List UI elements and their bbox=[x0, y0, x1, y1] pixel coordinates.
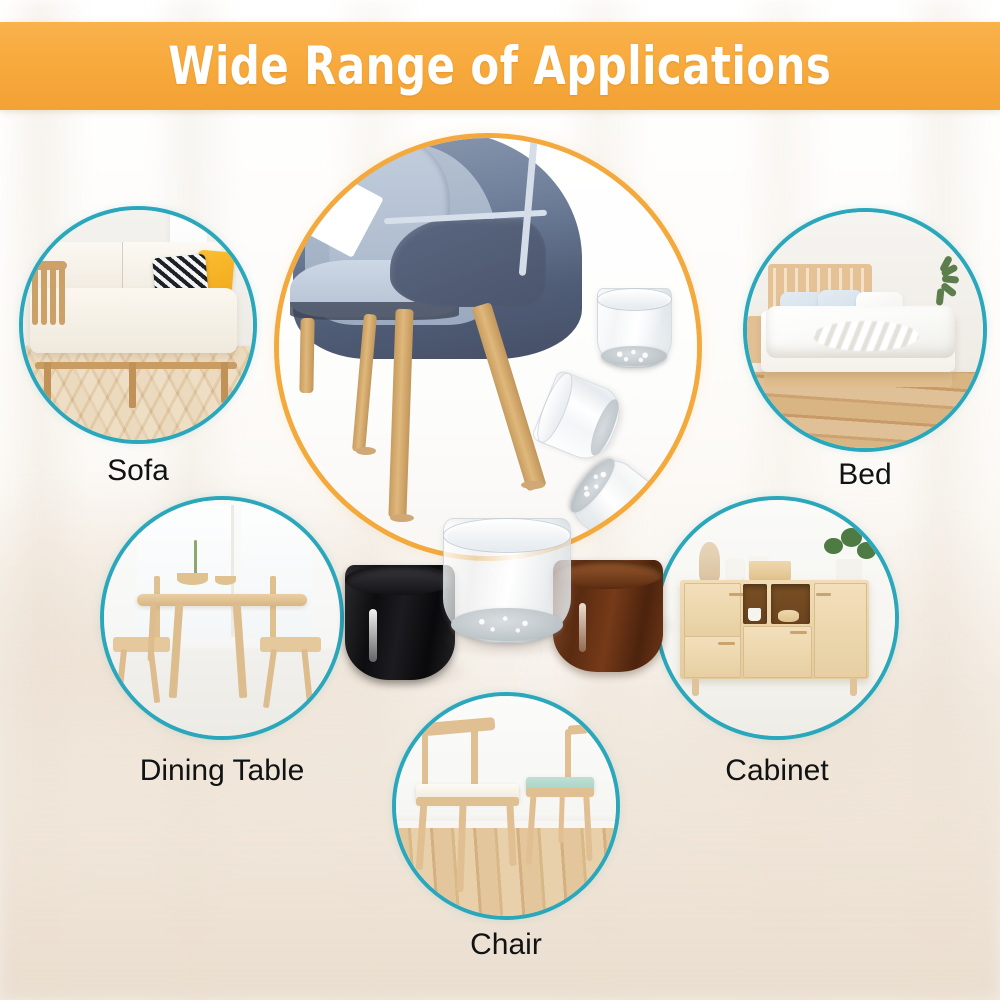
dining-chair-leg bbox=[263, 649, 277, 708]
cabinet-door bbox=[684, 583, 741, 637]
sofa-leg bbox=[221, 362, 228, 403]
chair-left-back-post bbox=[471, 727, 478, 793]
dining-chair-right bbox=[260, 594, 321, 707]
product-cap-transparent-felt-pad bbox=[451, 608, 564, 641]
hero-chair-leg bbox=[299, 318, 314, 393]
cabinet-leg bbox=[692, 679, 699, 696]
sofa-armrest bbox=[30, 261, 67, 358]
chair-floor bbox=[396, 828, 616, 916]
hero-photo bbox=[279, 138, 697, 556]
cabinet-door bbox=[814, 583, 867, 678]
hero-chair-foot bbox=[356, 447, 376, 455]
hero-chair bbox=[287, 138, 588, 385]
dining-chair-leg bbox=[115, 649, 127, 708]
sofa-armrest-post bbox=[32, 267, 38, 325]
bed-plant-leaf bbox=[936, 288, 945, 305]
sofa-armrest-post bbox=[41, 267, 47, 325]
cabinet-box bbox=[749, 561, 791, 580]
cabinet-door-handle bbox=[816, 593, 831, 596]
product-cap-brown-highlight bbox=[579, 603, 586, 652]
dining-bowl-small bbox=[215, 576, 236, 585]
application-circle-chair[interactable] bbox=[396, 696, 616, 916]
application-label-sofa: Sofa bbox=[23, 456, 253, 486]
application-label-chair: Chair bbox=[396, 930, 616, 960]
application-circle-sofa[interactable] bbox=[23, 210, 253, 440]
sofa-floor-overlay bbox=[23, 346, 253, 440]
hero-cap-upright bbox=[597, 288, 672, 367]
cabinet-leg bbox=[850, 679, 857, 696]
page-title: Wide Range of Applications bbox=[168, 40, 831, 93]
chair-left-back-post bbox=[422, 727, 428, 793]
application-label-bed: Bed bbox=[747, 460, 983, 490]
hero-chair-foot bbox=[390, 514, 414, 522]
sofa-armrest-post bbox=[50, 267, 56, 325]
hero-cap-rim bbox=[597, 288, 672, 311]
chair-left-seat-frame bbox=[416, 797, 519, 806]
product-cap-black[interactable] bbox=[345, 565, 455, 680]
dining-bowl-large bbox=[177, 573, 208, 585]
dining-chair-left bbox=[113, 594, 170, 707]
sofa-leg bbox=[44, 362, 51, 417]
application-circle-bed[interactable] bbox=[747, 212, 983, 448]
cabinet-shelf-cup bbox=[748, 608, 761, 621]
product-cap-transparent-rim bbox=[443, 518, 571, 553]
header-banner: Wide Range of Applications bbox=[0, 22, 1000, 110]
cabinet-door-handle bbox=[790, 631, 807, 634]
cabinet-door-handle bbox=[718, 642, 735, 645]
cabinet-plant-leaf bbox=[857, 542, 876, 559]
sofa-armrest-post bbox=[59, 267, 65, 325]
application-label-dining-table: Dining Table bbox=[84, 756, 360, 786]
hero-chair-foot bbox=[521, 481, 545, 489]
chair-photo bbox=[396, 696, 616, 916]
hero-circle-chair-with-caps[interactable] bbox=[279, 138, 697, 556]
product-cap-black-highlight bbox=[369, 609, 377, 662]
dining-chair-seat bbox=[260, 637, 321, 652]
cabinet-cup bbox=[727, 559, 744, 580]
sofa-leg bbox=[129, 362, 136, 408]
dining-chair-leg bbox=[301, 649, 312, 701]
cabinet-body bbox=[680, 580, 869, 679]
bed-duvet-folds bbox=[813, 321, 919, 352]
dining-chair-back-post bbox=[270, 576, 276, 642]
hero-cap-inverted bbox=[561, 449, 667, 555]
dining-table-top bbox=[137, 594, 307, 606]
product-cap-transparent[interactable] bbox=[443, 518, 571, 643]
bed-photo bbox=[747, 212, 983, 448]
cabinet-vase bbox=[699, 542, 720, 582]
infographic-canvas: Wide Range of Applications bbox=[0, 0, 1000, 1000]
sofa-photo bbox=[23, 210, 253, 440]
cabinet-shelf-bowl bbox=[778, 610, 799, 622]
cabinet-legs bbox=[692, 679, 857, 696]
product-cap-black-rim bbox=[345, 565, 455, 595]
application-label-cabinet: Cabinet bbox=[645, 756, 909, 786]
